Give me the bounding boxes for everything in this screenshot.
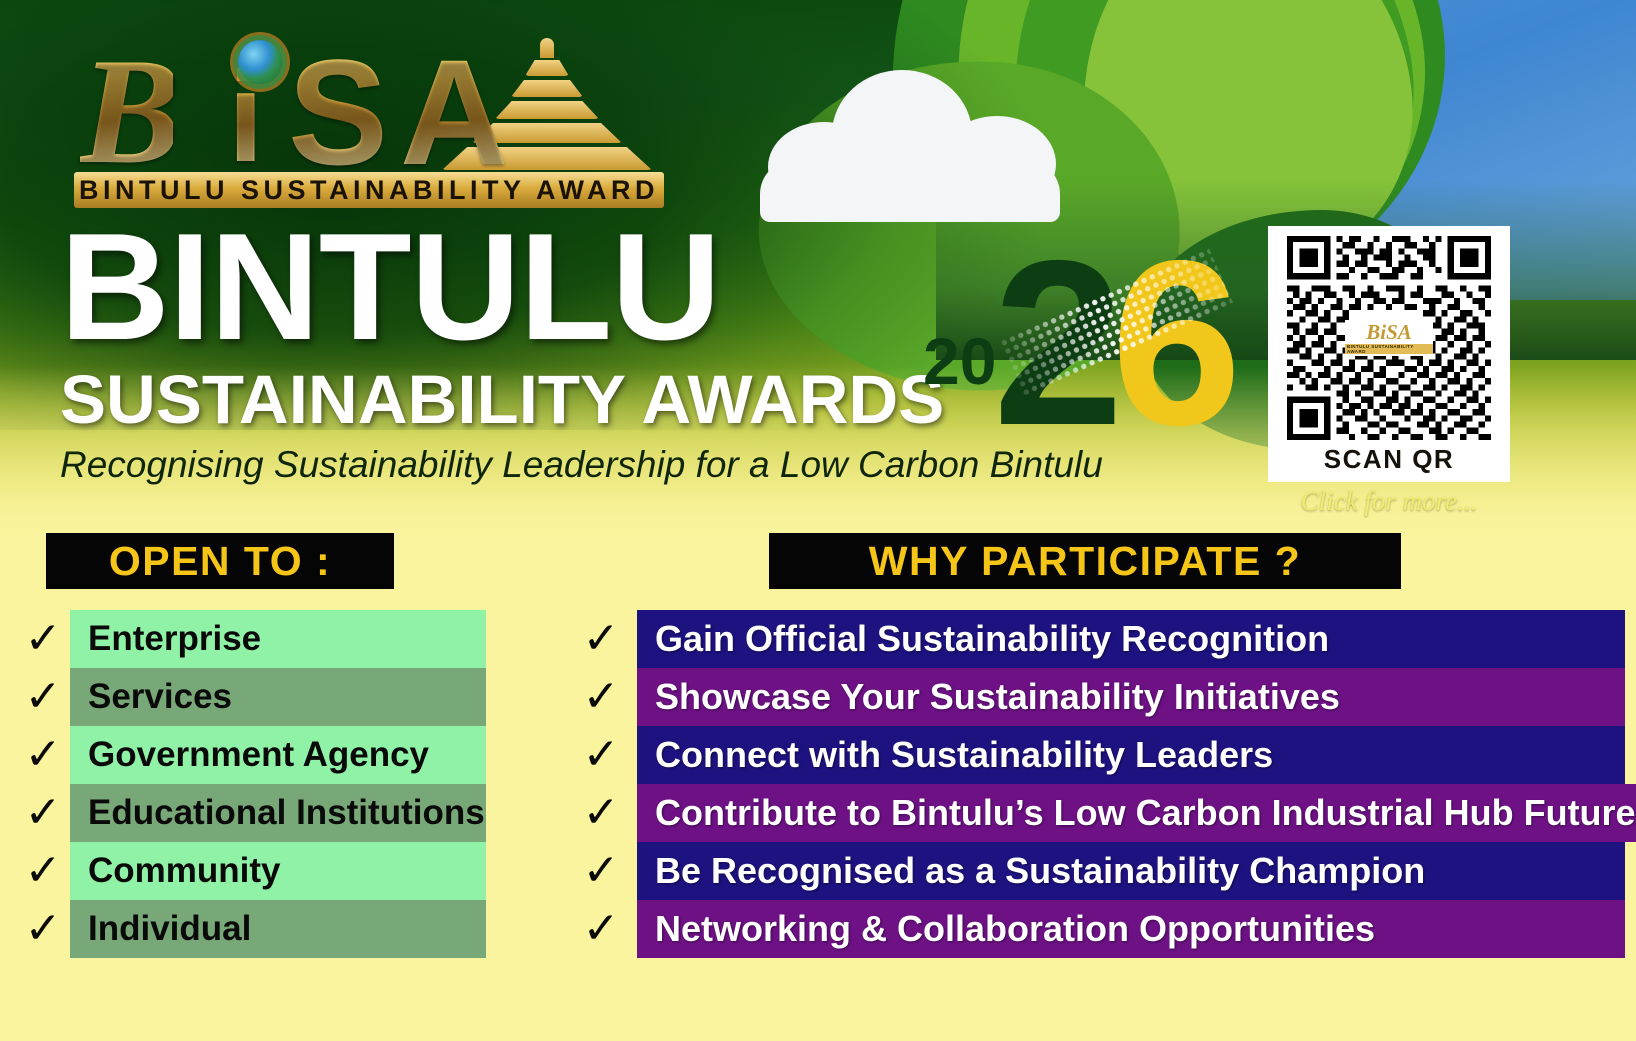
logo-wordmark: B i S A — [70, 22, 670, 170]
list-item[interactable]: ✓ Government Agency — [16, 726, 486, 784]
why-participate-banner: WHY PARTICIPATE ? — [769, 533, 1401, 589]
check-mark-icon: ✓ — [565, 668, 637, 726]
tower-tier — [495, 101, 599, 119]
why-item-label: Be Recognised as a Sustainability Champi… — [637, 842, 1625, 900]
tower-tier — [511, 80, 583, 97]
check-mark-icon: ✓ — [16, 610, 70, 668]
poster-root: B i S A BINTULU SUSTAINABILITY AWARD BIN… — [0, 0, 1636, 1041]
open-to-item-label: Individual — [70, 900, 486, 958]
open-to-banner: OPEN TO : — [46, 533, 394, 589]
qr-center-logo-strip: BINTULU SUSTAINABILITY AWARD — [1345, 344, 1433, 354]
list-item[interactable]: ✓ Community — [16, 842, 486, 900]
qr-center-logo: BiSA BINTULU SUSTAINABILITY AWARD — [1345, 320, 1433, 356]
check-mark-icon: ✓ — [16, 900, 70, 958]
why-item-label: Networking & Collaboration Opportunities — [637, 900, 1625, 958]
why-item-label: Gain Official Sustainability Recognition — [637, 610, 1625, 668]
check-mark-icon: ✓ — [565, 784, 637, 842]
scan-qr-label: SCAN QR — [1324, 444, 1454, 475]
list-item[interactable]: ✓ Services — [16, 668, 486, 726]
list-item[interactable]: ✓ Individual — [16, 900, 486, 958]
list-item[interactable]: ✓ Educational Institutions — [16, 784, 486, 842]
list-item[interactable]: ✓ Enterprise — [16, 610, 486, 668]
why-item-label: Connect with Sustainability Leaders — [637, 726, 1625, 784]
cloud-icon — [760, 70, 1060, 230]
check-mark-icon: ✓ — [565, 842, 637, 900]
list-item[interactable]: ✓ Connect with Sustainability Leaders — [565, 726, 1625, 784]
list-item[interactable]: ✓ Gain Official Sustainability Recogniti… — [565, 610, 1625, 668]
click-for-more-link[interactable]: Click for more... — [1268, 486, 1510, 517]
check-mark-icon: ✓ — [565, 726, 637, 784]
qr-card[interactable]: BiSA BINTULU SUSTAINABILITY AWARD SCAN Q… — [1268, 226, 1510, 482]
open-to-item-label: Services — [70, 668, 486, 726]
check-mark-icon: ✓ — [16, 668, 70, 726]
open-to-item-label: Community — [70, 842, 486, 900]
why-item-label: Showcase Your Sustainability Initiatives — [637, 668, 1625, 726]
qr-section[interactable]: BiSA BINTULU SUSTAINABILITY AWARD SCAN Q… — [1268, 226, 1510, 517]
open-to-item-label: Enterprise — [70, 610, 486, 668]
globe-icon — [238, 40, 282, 84]
logo-tagline-text: BINTULU SUSTAINABILITY AWARD — [79, 175, 659, 206]
qr-center-logo-text: BiSA — [1366, 322, 1412, 343]
list-item[interactable]: ✓ Contribute to Bintulu’s Low Carbon Ind… — [565, 784, 1625, 842]
open-to-item-label: Government Agency — [70, 726, 486, 784]
check-mark-icon: ✓ — [565, 900, 637, 958]
open-to-list: ✓ Enterprise ✓ Services ✓ Government Age… — [16, 610, 486, 958]
open-to-item-label: Educational Institutions — [70, 784, 486, 842]
why-participate-banner-label: WHY PARTICIPATE ? — [869, 538, 1301, 585]
why-item-label: Contribute to Bintulu’s Low Carbon Indus… — [637, 784, 1636, 842]
list-item[interactable]: ✓ Networking & Collaboration Opportuniti… — [565, 900, 1625, 958]
check-mark-icon: ✓ — [16, 842, 70, 900]
year-lockup: 20 2 6 — [915, 245, 1215, 470]
tower-tier — [525, 60, 569, 76]
check-mark-icon: ✓ — [16, 784, 70, 842]
tower-tier — [540, 38, 554, 58]
check-mark-icon: ✓ — [565, 610, 637, 668]
year-prefix: 20 — [923, 323, 996, 399]
bisa-logo[interactable]: B i S A BINTULU SUSTAINABILITY AWARD — [70, 22, 670, 212]
check-mark-icon: ✓ — [16, 726, 70, 784]
list-item[interactable]: ✓ Be Recognised as a Sustainability Cham… — [565, 842, 1625, 900]
qr-code-icon[interactable]: BiSA BINTULU SUSTAINABILITY AWARD — [1287, 236, 1491, 440]
open-to-banner-label: OPEN TO : — [109, 538, 331, 585]
why-participate-list: ✓ Gain Official Sustainability Recogniti… — [565, 610, 1625, 958]
list-item[interactable]: ✓ Showcase Your Sustainability Initiativ… — [565, 668, 1625, 726]
